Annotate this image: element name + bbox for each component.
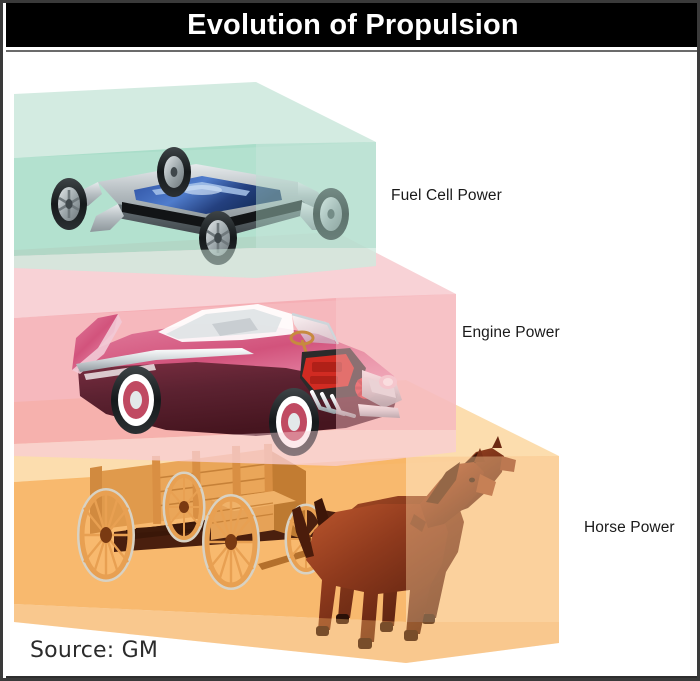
car-wheel-rear xyxy=(111,366,161,434)
box-right-face-engine-overlay xyxy=(336,294,456,430)
infographic-figure: Evolution of Propulsion xyxy=(0,0,700,681)
tier-label-fuel-cell-power: Fuel Cell Power xyxy=(391,187,502,205)
diagram-canvas: Fuel Cell Power Engine Power Horse Power… xyxy=(6,50,700,678)
title-bar: Evolution of Propulsion xyxy=(6,3,700,47)
wagon-wheel-rear-left xyxy=(80,491,132,579)
page-title: Evolution of Propulsion xyxy=(187,11,519,40)
footer-divider xyxy=(6,676,700,679)
chassis-wheel-rear-left xyxy=(51,178,87,230)
tier-label-horse-power: Horse Power xyxy=(584,519,675,537)
box-right-face-horse-overlay xyxy=(406,456,559,622)
box-right-face-fuel-overlay xyxy=(256,142,376,248)
source-attribution: Source: GM xyxy=(30,638,158,663)
wagon-wheel-rear-right xyxy=(205,497,257,587)
wagon-wheel-front-left xyxy=(165,474,203,540)
tier-label-engine-power: Engine Power xyxy=(462,324,560,342)
isometric-stack-graphic xyxy=(6,52,700,680)
chassis-wheel-rear-right xyxy=(157,147,191,197)
